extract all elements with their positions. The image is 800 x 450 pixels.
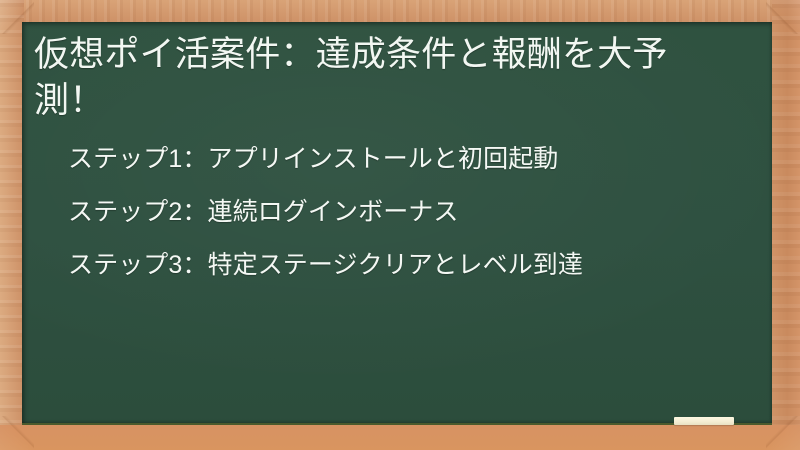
list-item: ステップ1：アプリインストールと初回起動 (68, 147, 746, 172)
slide-title: 仮想ポイ活案件：達成条件と報酬を大予測！ (32, 32, 736, 123)
list-item: ステップ2：連続ログインボーナス (68, 200, 746, 225)
slide-canvas: 仮想ポイ活案件：達成条件と報酬を大予測！ ステップ1：アプリインストールと初回起… (0, 0, 800, 450)
chalk-stick (674, 417, 734, 425)
frame-top-rail (0, 0, 800, 24)
frame-left-rail (0, 0, 24, 450)
frame-bottom-ledge (0, 425, 800, 450)
chalkboard-content: 仮想ポイ活案件：達成条件と報酬を大予測！ ステップ1：アプリインストールと初回起… (22, 22, 772, 423)
step-list: ステップ1：アプリインストールと初回起動 ステップ2：連続ログインボーナス ステ… (32, 147, 746, 278)
list-item: ステップ3：特定ステージクリアとレベル到達 (68, 253, 746, 278)
chalkboard-surface: 仮想ポイ活案件：達成条件と報酬を大予測！ ステップ1：アプリインストールと初回起… (22, 22, 772, 425)
frame-right-rail (772, 0, 800, 450)
